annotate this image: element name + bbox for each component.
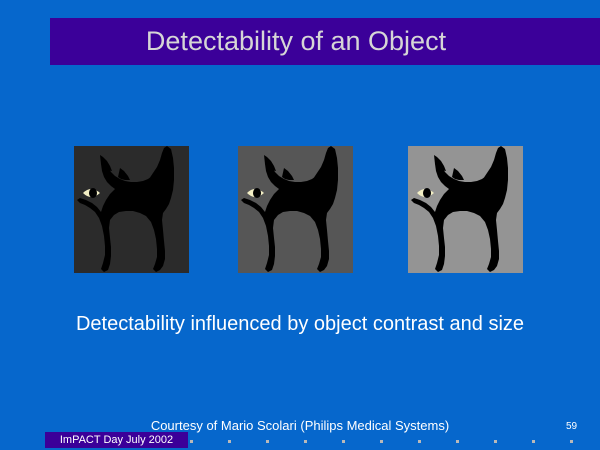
cat-figure-low-contrast — [74, 146, 189, 273]
page-number: 59 — [566, 421, 586, 432]
image-panel-medium-contrast — [238, 146, 353, 273]
cat-figure-medium-contrast — [238, 146, 353, 273]
rule-dot — [418, 440, 421, 443]
cat-pupil — [253, 188, 261, 198]
rule-dot — [532, 440, 535, 443]
footer-badge-label: ImPACT Day July 2002 — [45, 432, 188, 448]
rule-dot — [304, 440, 307, 443]
rule-dot — [266, 440, 269, 443]
title-banner: Detectability of an Object — [50, 18, 600, 65]
rule-dot — [380, 440, 383, 443]
cat-figure-high-contrast — [408, 146, 523, 273]
rule-dot — [190, 440, 193, 443]
rule-dot — [228, 440, 231, 443]
image-panel-high-contrast — [408, 146, 523, 273]
credit-line: Courtesy of Mario Scolari (Philips Medic… — [0, 418, 600, 433]
footer-badge: ImPACT Day July 2002 — [45, 432, 188, 448]
rule-dot — [570, 440, 573, 443]
cat-pupil — [89, 188, 97, 198]
slide-caption: Detectability influenced by object contr… — [0, 313, 600, 336]
image-panel-low-contrast — [74, 146, 189, 273]
presentation-slide: Detectability of an Object — [0, 0, 600, 450]
rule-dot — [342, 440, 345, 443]
dotted-rule — [190, 440, 600, 443]
rule-dot — [494, 440, 497, 443]
cat-pupil — [423, 188, 431, 198]
slide-title: Detectability of an Object — [50, 18, 542, 65]
rule-dot — [456, 440, 459, 443]
